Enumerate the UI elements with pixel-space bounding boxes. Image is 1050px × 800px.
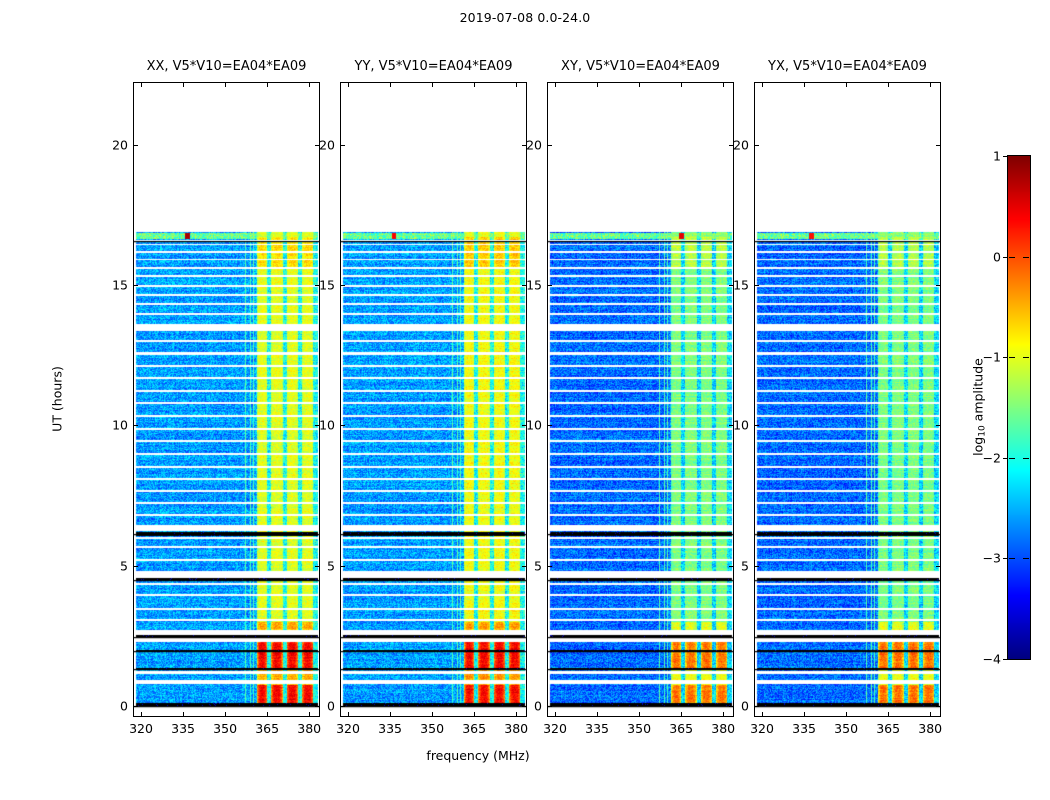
panel-yy[interactable]: YY, V5*V10=EA04*EA09 320335350365380 051… xyxy=(340,82,527,717)
xtick-top xyxy=(309,82,310,87)
axes-yy[interactable] xyxy=(340,82,527,717)
xtick-top xyxy=(432,82,433,87)
panel-yx[interactable]: YX, V5*V10=EA04*EA09 320335350365380 051… xyxy=(754,82,941,717)
xtick-label: 365 xyxy=(876,721,900,736)
ytick-label: 20 xyxy=(319,137,335,152)
colorbar-tick xyxy=(1003,458,1007,459)
xticklabels-yx: 320335350365380 xyxy=(754,721,941,739)
colorbar-tick-label: 1 xyxy=(993,149,1001,164)
xtick-top xyxy=(723,82,724,87)
xtick xyxy=(555,712,556,717)
ytick xyxy=(133,566,138,567)
ytick-label: 0 xyxy=(534,699,542,714)
ytick xyxy=(754,285,759,286)
xtick-label: 320 xyxy=(750,721,774,736)
xtick-label: 350 xyxy=(834,721,858,736)
colorbar-inner-tick-right xyxy=(1023,558,1029,559)
xtick xyxy=(762,712,763,717)
ytick xyxy=(340,706,345,707)
ytick xyxy=(133,285,138,286)
axes-xx[interactable] xyxy=(133,82,320,717)
ytick-right xyxy=(522,706,527,707)
ytick-label: 5 xyxy=(120,558,128,573)
xtick-top xyxy=(762,82,763,87)
ytick xyxy=(754,706,759,707)
colorbar-tick-label: −3 xyxy=(983,551,1001,566)
colorbar[interactable]: −4−3−2−101 xyxy=(1007,155,1031,660)
xtick-top xyxy=(390,82,391,87)
xtick-label: 320 xyxy=(129,721,153,736)
ytick-right xyxy=(936,706,941,707)
ytick-label: 0 xyxy=(327,699,335,714)
xtick xyxy=(432,712,433,717)
ytick-label: 10 xyxy=(526,418,542,433)
ytick-label: 10 xyxy=(733,418,749,433)
colorbar-tick xyxy=(1003,156,1007,157)
ytick xyxy=(133,425,138,426)
xtick xyxy=(141,712,142,717)
ytick-right xyxy=(315,566,320,567)
xtick xyxy=(474,712,475,717)
panel-title-xx: XX, V5*V10=EA04*EA09 xyxy=(133,59,320,74)
panel-title-xy: XY, V5*V10=EA04*EA09 xyxy=(547,59,734,74)
xticklabels-xx: 320335350365380 xyxy=(133,721,320,739)
colorbar-tick-label: 0 xyxy=(993,249,1001,264)
colorbar-tick xyxy=(1003,357,1007,358)
xtick-label: 365 xyxy=(462,721,486,736)
panel-title-yy: YY, V5*V10=EA04*EA09 xyxy=(340,59,527,74)
xtick-top xyxy=(888,82,889,87)
ytick-label: 20 xyxy=(112,137,128,152)
xtick xyxy=(309,712,310,717)
colorbar-tick xyxy=(1003,659,1007,660)
colorbar-tick xyxy=(1003,558,1007,559)
ytick-right xyxy=(936,285,941,286)
xtick xyxy=(639,712,640,717)
xtick-label: 380 xyxy=(918,721,942,736)
xticklabels-xy: 320335350365380 xyxy=(547,721,734,739)
ytick xyxy=(754,145,759,146)
xtick-top xyxy=(474,82,475,87)
ytick-label: 0 xyxy=(741,699,749,714)
ytick xyxy=(547,145,552,146)
xtick xyxy=(225,712,226,717)
xtick-label: 380 xyxy=(711,721,735,736)
xticklabels-yy: 320335350365380 xyxy=(340,721,527,739)
ytick xyxy=(340,425,345,426)
colorbar-inner-tick-right xyxy=(1023,357,1029,358)
xtick-top xyxy=(516,82,517,87)
xtick xyxy=(846,712,847,717)
xtick-label: 380 xyxy=(504,721,528,736)
axes-xy[interactable] xyxy=(547,82,734,717)
figure-canvas: 2019-07-08 0.0-24.0 XX, V5*V10=EA04*EA09… xyxy=(0,0,1050,800)
ytick xyxy=(547,706,552,707)
colorbar-label: log10 amplitude xyxy=(971,358,986,456)
xtick xyxy=(681,712,682,717)
x-axis-label: frequency (MHz) xyxy=(426,748,529,763)
xtick xyxy=(930,712,931,717)
ytick-right xyxy=(522,566,527,567)
xtick-label: 335 xyxy=(378,721,402,736)
ytick-right xyxy=(729,566,734,567)
xtick-label: 320 xyxy=(543,721,567,736)
xtick-top xyxy=(225,82,226,87)
xtick-label: 380 xyxy=(297,721,321,736)
xtick-label: 365 xyxy=(669,721,693,736)
colorbar-inner-tick xyxy=(1009,558,1015,559)
xtick-top xyxy=(804,82,805,87)
ytick xyxy=(754,566,759,567)
xtick-top xyxy=(930,82,931,87)
xtick-top xyxy=(183,82,184,87)
colorbar-inner-tick-right xyxy=(1023,458,1029,459)
ytick-label: 5 xyxy=(327,558,335,573)
ytick-label: 20 xyxy=(733,137,749,152)
panel-xy[interactable]: XY, V5*V10=EA04*EA09 320335350365380 051… xyxy=(547,82,734,717)
xtick-top xyxy=(141,82,142,87)
xtick-label: 350 xyxy=(420,721,444,736)
xtick-label: 350 xyxy=(627,721,651,736)
xtick xyxy=(888,712,889,717)
xtick xyxy=(183,712,184,717)
ytick xyxy=(547,425,552,426)
colorbar-label-sub: 10 xyxy=(978,425,988,436)
axes-yx[interactable] xyxy=(754,82,941,717)
xtick xyxy=(516,712,517,717)
ytick-right xyxy=(936,566,941,567)
ytick xyxy=(133,706,138,707)
colorbar-tick-label: −4 xyxy=(983,652,1001,667)
xtick-top xyxy=(597,82,598,87)
colorbar-inner-tick xyxy=(1009,257,1015,258)
colorbar-inner-tick xyxy=(1009,458,1015,459)
xtick-top xyxy=(639,82,640,87)
ytick xyxy=(754,425,759,426)
xtick-top xyxy=(846,82,847,87)
ytick-right xyxy=(315,706,320,707)
ytick-right xyxy=(729,706,734,707)
colorbar-label-tail: amplitude xyxy=(971,358,986,425)
colorbar-tick xyxy=(1003,257,1007,258)
colorbar-label-main: log xyxy=(971,437,986,456)
colorbar-inner-tick xyxy=(1009,357,1015,358)
ytick-right xyxy=(936,145,941,146)
xtick-top xyxy=(348,82,349,87)
xtick-label: 350 xyxy=(213,721,237,736)
ytick xyxy=(547,285,552,286)
ytick-label: 15 xyxy=(319,278,335,293)
figure-suptitle: 2019-07-08 0.0-24.0 xyxy=(0,10,1050,25)
xtick xyxy=(348,712,349,717)
ytick xyxy=(340,566,345,567)
xtick-label: 365 xyxy=(255,721,279,736)
xtick xyxy=(390,712,391,717)
ytick-label: 5 xyxy=(534,558,542,573)
xtick-label: 335 xyxy=(585,721,609,736)
xtick-label: 335 xyxy=(792,721,816,736)
ytick-label: 5 xyxy=(741,558,749,573)
ytick-right xyxy=(936,425,941,426)
ytick-label: 15 xyxy=(112,278,128,293)
ytick-label: 10 xyxy=(112,418,128,433)
panel-title-yx: YX, V5*V10=EA04*EA09 xyxy=(754,59,941,74)
xtick-label: 335 xyxy=(171,721,195,736)
ytick-label: 20 xyxy=(526,137,542,152)
y-axis-label: UT (hours) xyxy=(50,366,65,432)
xtick xyxy=(597,712,598,717)
panel-xx[interactable]: XX, V5*V10=EA04*EA09 320335350365380 051… xyxy=(133,82,320,717)
xtick xyxy=(267,712,268,717)
ytick xyxy=(133,145,138,146)
xtick xyxy=(804,712,805,717)
colorbar-inner-tick-right xyxy=(1023,257,1029,258)
ytick-label: 10 xyxy=(319,418,335,433)
xtick-top xyxy=(681,82,682,87)
ytick-label: 15 xyxy=(526,278,542,293)
xtick-top xyxy=(267,82,268,87)
ytick xyxy=(340,285,345,286)
xtick-top xyxy=(555,82,556,87)
ytick-label: 0 xyxy=(120,699,128,714)
xtick xyxy=(723,712,724,717)
xtick-label: 320 xyxy=(336,721,360,736)
ytick xyxy=(340,145,345,146)
colorbar-frame xyxy=(1007,155,1031,660)
ytick xyxy=(547,566,552,567)
ytick-label: 15 xyxy=(733,278,749,293)
